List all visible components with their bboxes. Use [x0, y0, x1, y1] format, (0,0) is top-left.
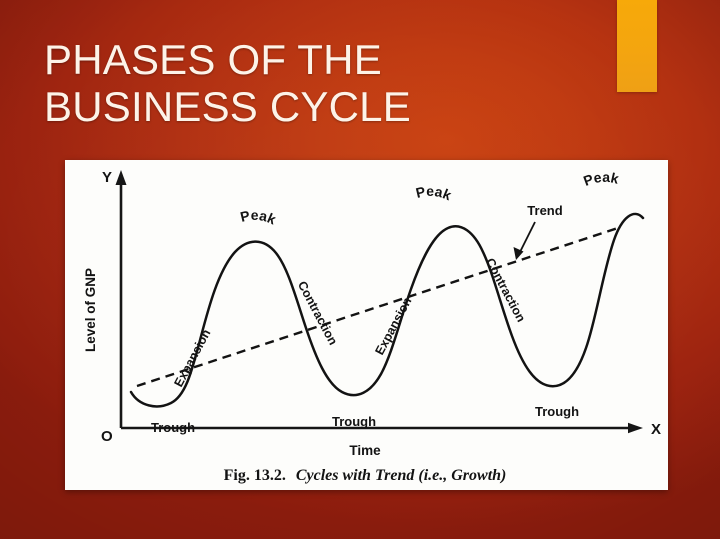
peak-label-1: Peak	[239, 207, 279, 228]
slide-canvas: PHASES OF THE BUSINESS CYCLE Y O X Level…	[0, 0, 720, 539]
trend-label: Trend	[527, 203, 562, 218]
x-axis-title: Time	[349, 443, 381, 458]
y-axis	[116, 170, 127, 428]
figure-caption: Fig. 13.2. Cycles with Trend (i.e., Grow…	[224, 467, 507, 484]
y-axis-letter: Y	[102, 169, 112, 186]
figure-caption-label: Fig. 13.2.	[224, 467, 286, 484]
svg-text:Peak: Peak	[581, 169, 620, 189]
trend-leader-arrow	[514, 222, 536, 260]
trough-label-1: Trough	[151, 420, 195, 435]
peak-label-3: Peak	[581, 169, 620, 189]
expansion-label-1: Expansion	[171, 327, 213, 389]
x-axis	[121, 423, 643, 433]
business-cycle-curve	[131, 214, 643, 406]
page-title: PHASES OF THE BUSINESS CYCLE	[44, 36, 584, 130]
svg-text:Peak: Peak	[414, 183, 454, 203]
figure-caption-text: Cycles with Trend (i.e., Growth)	[296, 467, 507, 484]
svg-text:Peak: Peak	[239, 207, 279, 228]
trough-label-3: Trough	[535, 404, 579, 419]
y-axis-title: Level of GNP	[83, 268, 98, 352]
expansion-label-2: Expansion	[372, 295, 414, 357]
x-axis-letter: X	[651, 421, 661, 438]
business-cycle-figure: Y O X Level of GNP Time Peak Peak	[65, 160, 668, 490]
figure-panel: Y O X Level of GNP Time Peak Peak	[65, 160, 668, 490]
accent-bar	[617, 0, 657, 92]
origin-letter: O	[101, 428, 113, 445]
peak-label-2: Peak	[414, 183, 454, 203]
trough-label-2: Trough	[332, 414, 376, 429]
